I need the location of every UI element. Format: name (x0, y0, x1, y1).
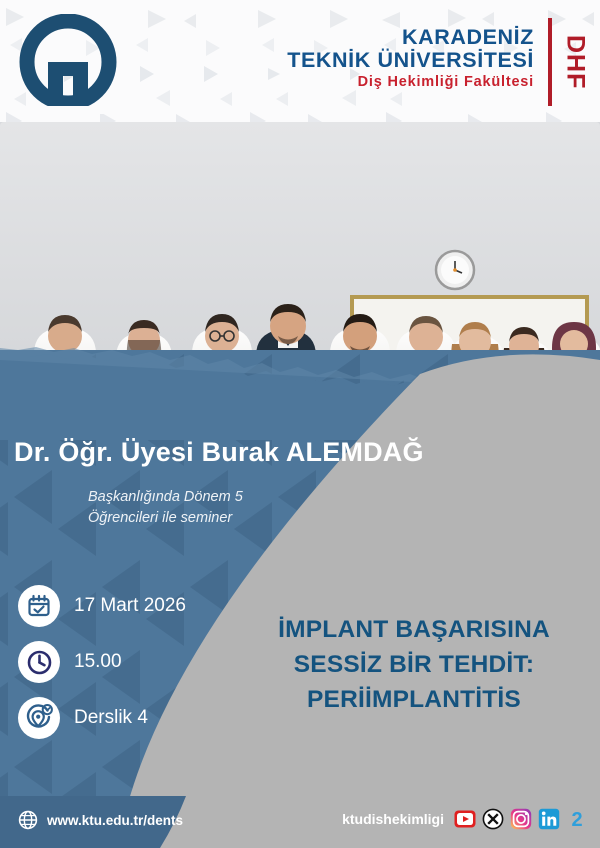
speaker-subtitle-line-1: Başkanlığında Dönem 5 (88, 487, 243, 508)
seminar-title: İMPLANT BAŞARISINA SESSİZ BİR TEHDİT: PE… (240, 612, 588, 717)
linkedin-icon[interactable] (538, 808, 560, 830)
event-detail-location: Derslik 4 (18, 690, 248, 746)
university-line-2: TEKNİK ÜNİVERSİTESİ (287, 49, 534, 72)
clock-icon (18, 641, 60, 683)
footer-website[interactable]: www.ktu.edu.tr/dents (18, 810, 183, 830)
event-time-label: 15.00 (74, 651, 122, 673)
instagram-icon[interactable] (510, 808, 532, 830)
poster-header: KARADENİZ TEKNİK ÜNİVERSİTESİ Diş Hekiml… (0, 0, 600, 122)
seminar-title-line-3: PERİİMPLANTİTİS (240, 682, 588, 717)
event-location-label: Derslik 4 (74, 707, 148, 729)
youtube-icon[interactable] (454, 808, 476, 830)
event-date-label: 17 Mart 2026 (74, 595, 186, 617)
seminar-title-line-2: SESSİZ BİR TEHDİT: (240, 647, 588, 682)
ktu-logo-mark (12, 14, 124, 114)
seminar-poster: KARADENİZ TEKNİK ÜNİVERSİTESİ Diş Hekiml… (0, 0, 600, 848)
ktu-logo (12, 14, 124, 114)
event-details-list: 17 Mart 2026 15.00 (18, 578, 248, 746)
x-twitter-icon[interactable] (482, 808, 504, 830)
calendar-icon (18, 585, 60, 627)
footer-social-bar: ktudishekimligi (342, 808, 588, 830)
speaker-subtitle-line-2: Öğrencileri ile seminer (88, 508, 243, 529)
header-title-block: KARADENİZ TEKNİK ÜNİVERSİTESİ Diş Hekiml… (287, 26, 534, 91)
number-two-icon[interactable]: 2 (566, 808, 588, 830)
university-line-1: KARADENİZ (287, 26, 534, 49)
svg-text:2: 2 (571, 809, 582, 830)
header-divider (548, 18, 552, 106)
speaker-subtitle: Başkanlığında Dönem 5 Öğrencileri ile se… (88, 487, 243, 529)
dhf-badge: DHF (556, 20, 594, 104)
globe-icon (18, 810, 38, 830)
social-handle: ktudishekimligi (342, 811, 444, 827)
event-detail-time: 15.00 (18, 634, 248, 690)
location-pin-icon (18, 697, 60, 739)
event-detail-date: 17 Mart 2026 (18, 578, 248, 634)
website-url: www.ktu.edu.tr/dents (47, 813, 183, 828)
seminar-title-line-1: İMPLANT BAŞARISINA (240, 612, 588, 647)
speaker-name: Dr. Öğr. Üyesi Burak ALEMDAĞ (14, 437, 424, 468)
faculty-line: Diş Hekimliği Fakültesi (287, 75, 534, 91)
